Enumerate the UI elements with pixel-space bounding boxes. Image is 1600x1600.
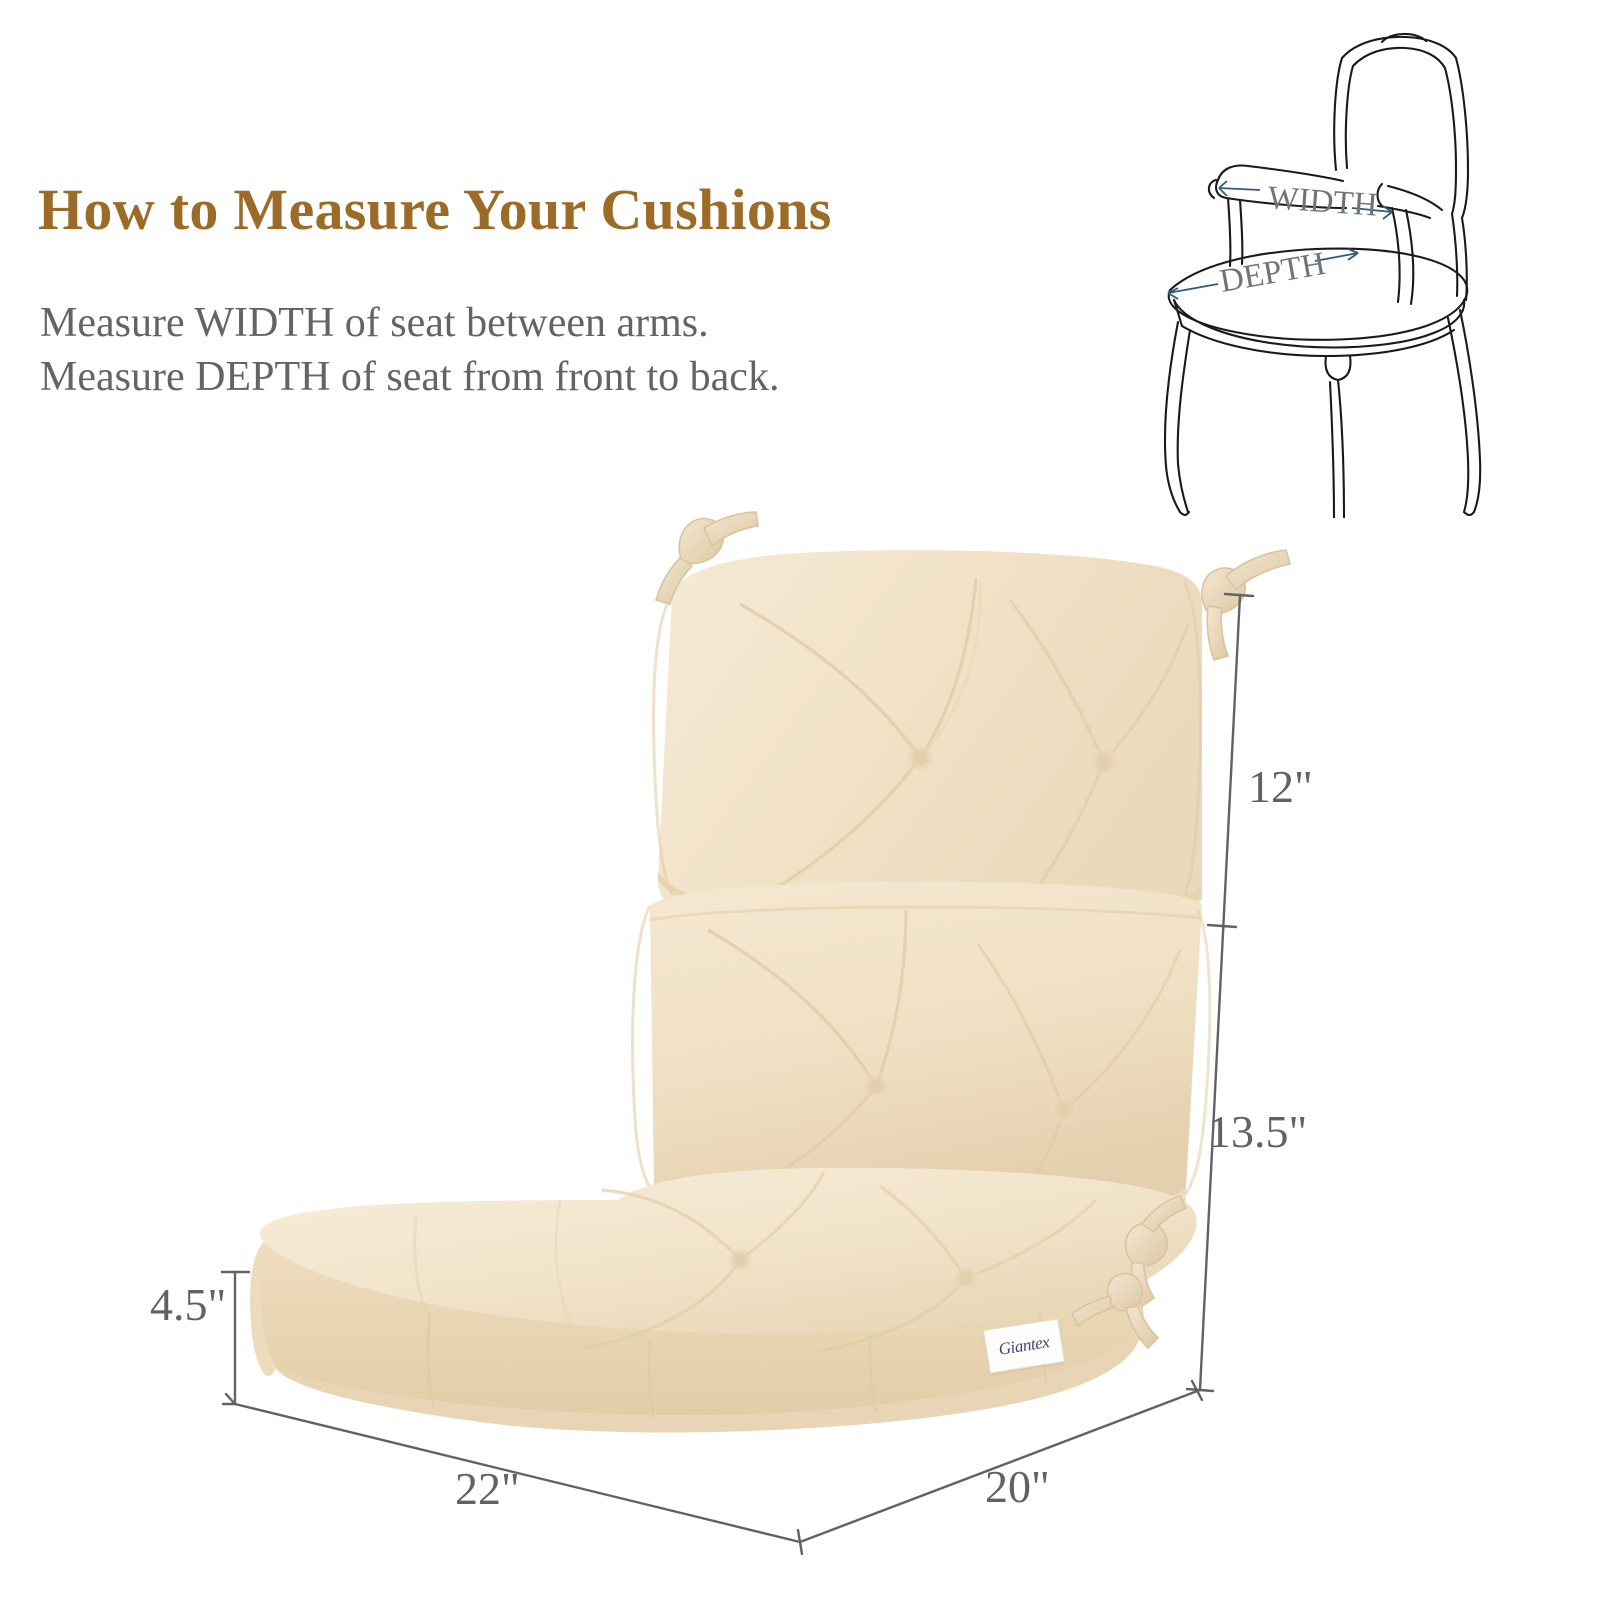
instruction-line-width: Measure WIDTH of seat between arms.: [40, 296, 779, 350]
page-title: How to Measure Your Cushions: [38, 176, 832, 243]
dimension-label-back-height: 12": [1248, 760, 1313, 813]
chair-diagram: WIDTH DEPTH: [1130, 18, 1600, 518]
cushion-product-image: [180, 500, 1300, 1570]
dimension-label-lower-back-height: 13.5": [1208, 1105, 1307, 1158]
cushion-back-upper-panel: [654, 550, 1202, 929]
infographic-page: How to Measure Your Cushions Measure WID…: [0, 0, 1600, 1600]
chair-width-label: WIDTH: [1266, 180, 1378, 224]
brand-tag-label: Giantex: [997, 1332, 1051, 1360]
chair-depth-label: DEPTH: [1217, 246, 1328, 300]
instruction-line-depth: Measure DEPTH of seat from front to back…: [40, 350, 779, 404]
dimension-label-seat-thickness: 4.5": [150, 1278, 226, 1331]
dimension-label-seat-depth: 20": [985, 1460, 1050, 1513]
dimension-label-seat-width: 22": [455, 1462, 520, 1515]
cushion-seat-panel: [250, 1168, 1197, 1433]
measure-instructions: Measure WIDTH of seat between arms. Meas…: [40, 296, 779, 404]
